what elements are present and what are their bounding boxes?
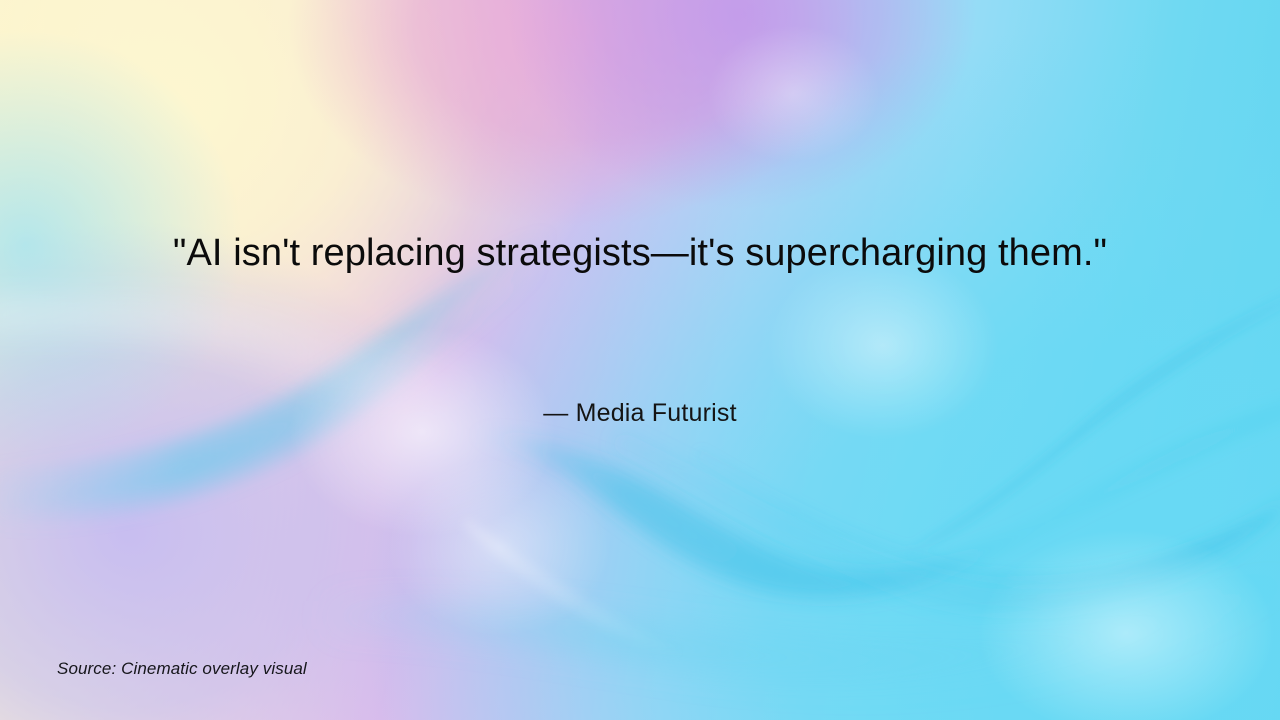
quote-slide: "AI isn't replacing strategists—it's sup… — [0, 0, 1280, 720]
quote-attribution: — Media Futurist — [160, 396, 1120, 430]
quote-headline: "AI isn't replacing strategists—it's sup… — [160, 228, 1120, 278]
source-caption: Source: Cinematic overlay visual — [57, 657, 307, 681]
text-stack: "AI isn't replacing strategists—it's sup… — [160, 0, 1120, 720]
